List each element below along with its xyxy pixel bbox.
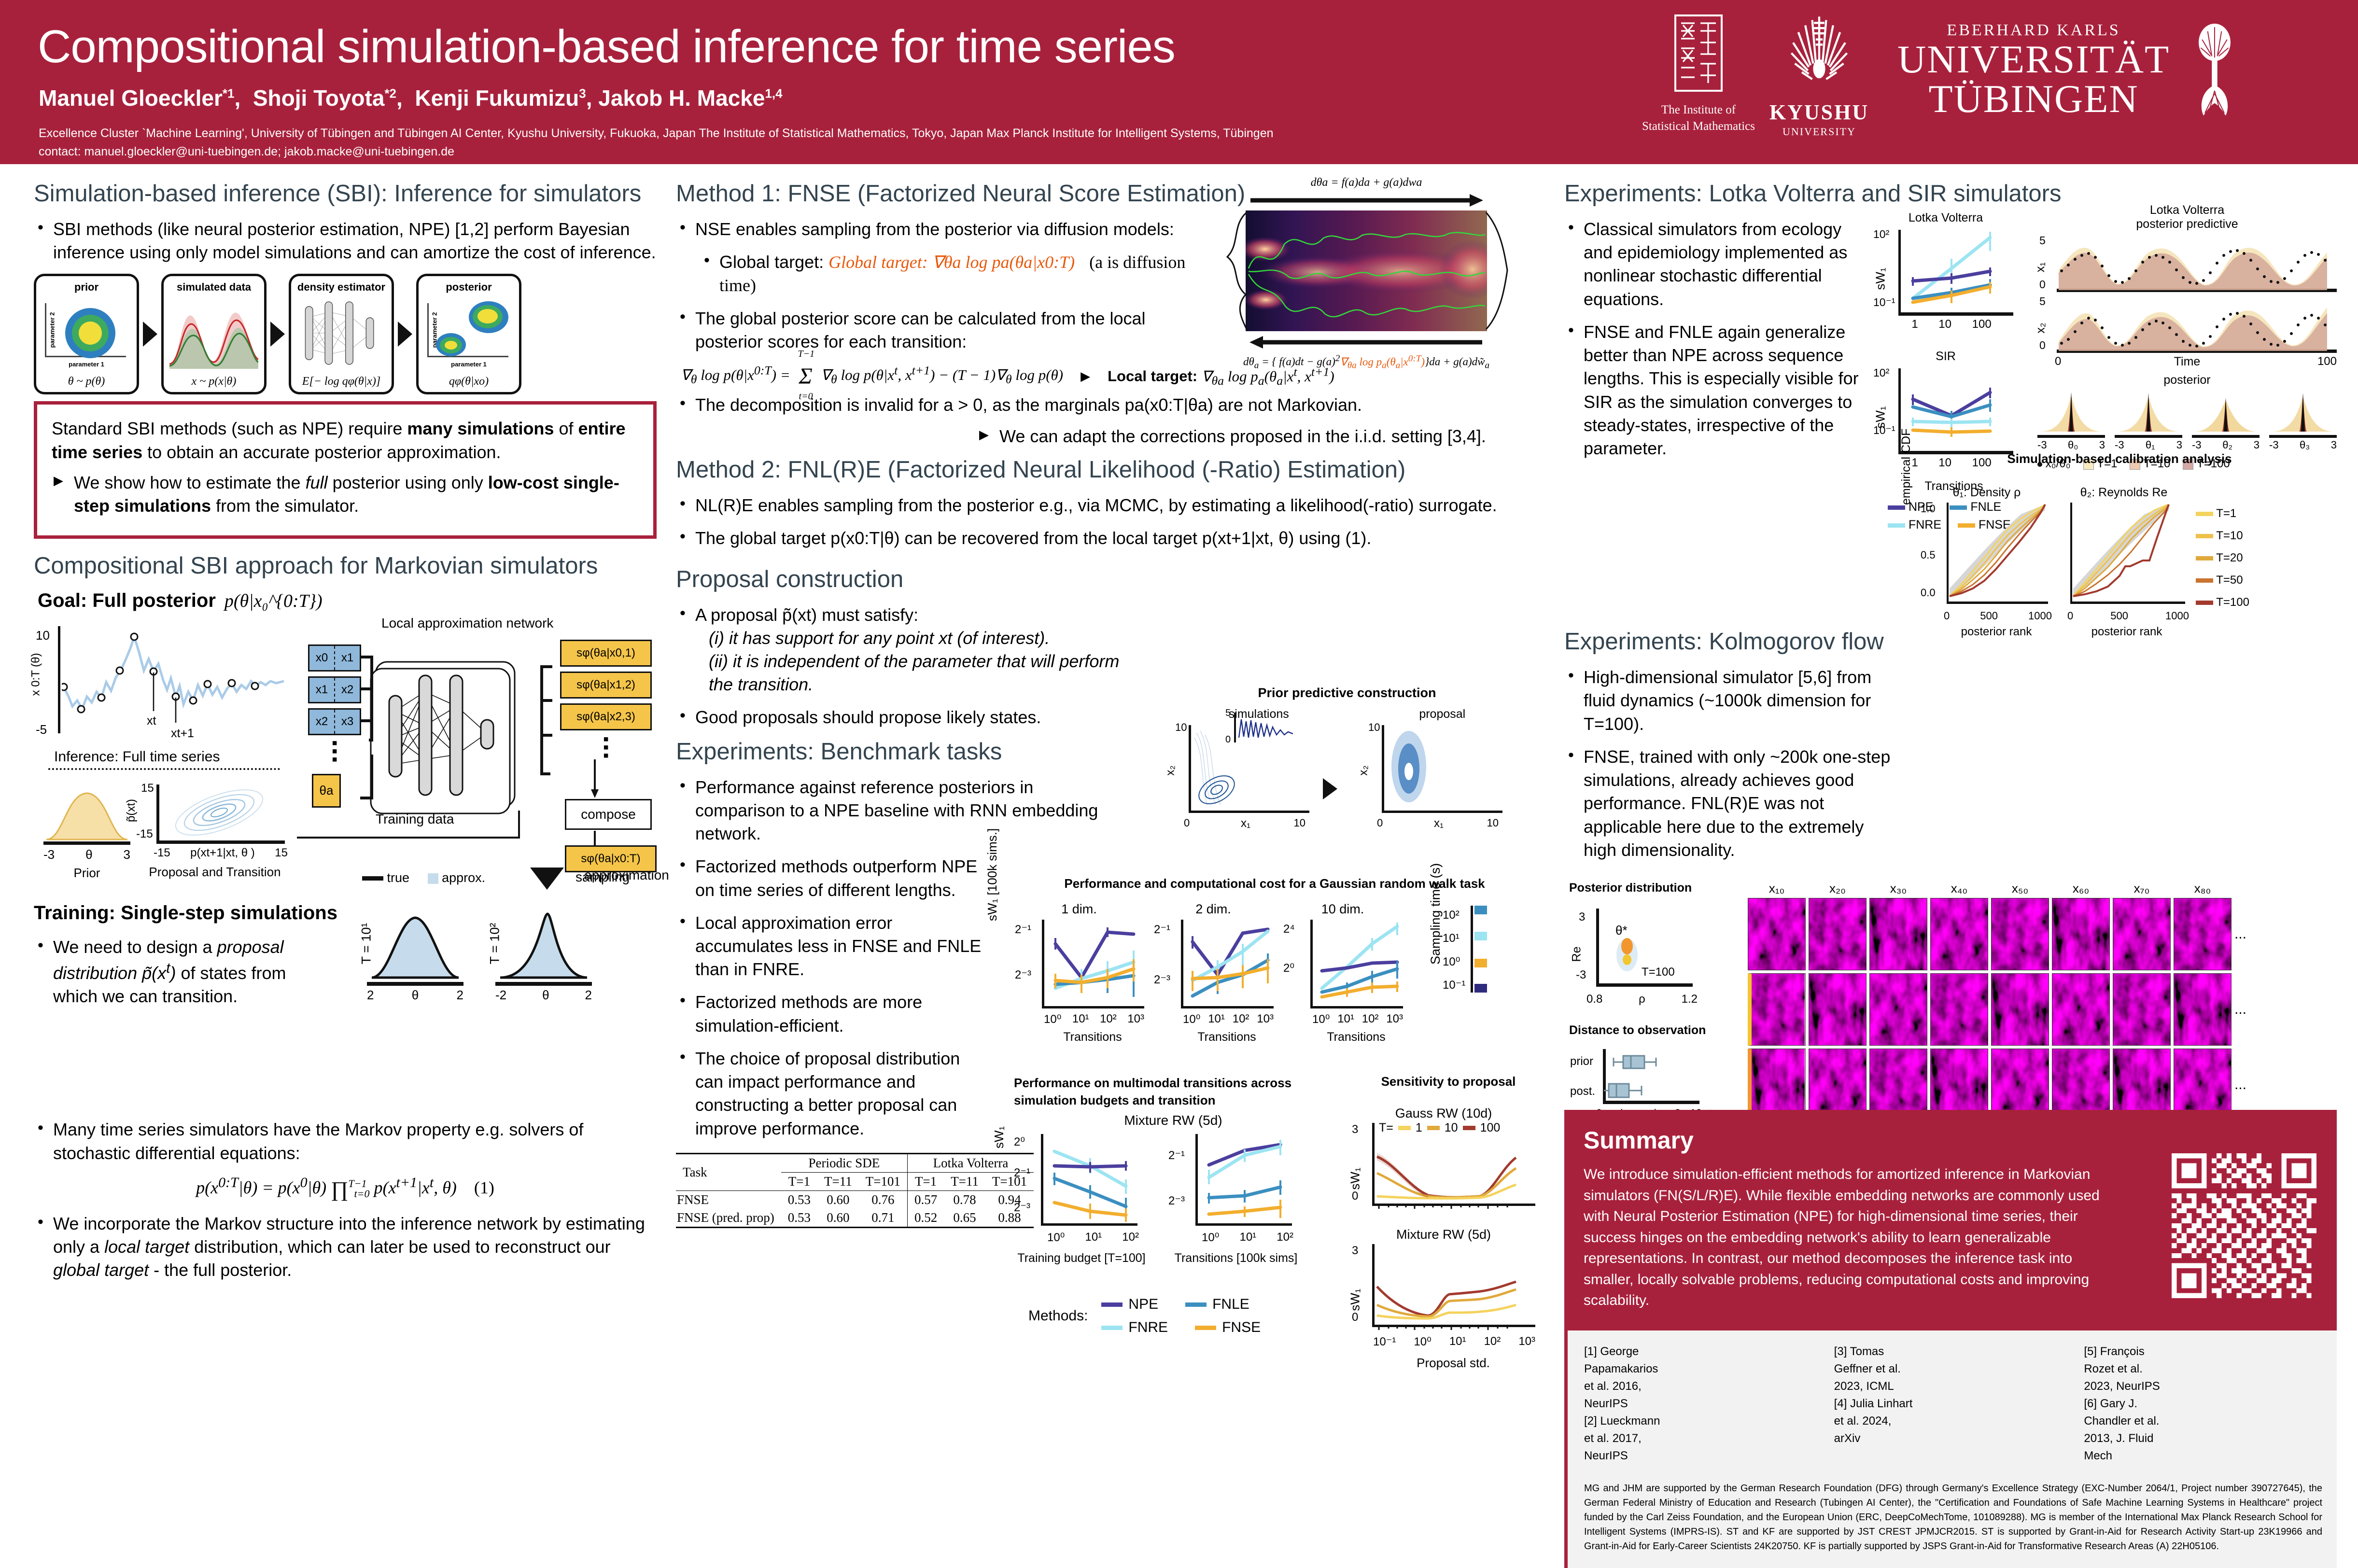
theta-tick-max: 3 bbox=[2331, 439, 2337, 451]
ism-seal-icon bbox=[1670, 10, 1727, 97]
chart-sensitivity-to-proposal: Gauss RW (10d) 3 0 sW₁ T= 1 10 100 bbox=[1352, 1106, 1535, 1371]
highlight-line-1: Standard SBI methods (such as NPE) requi… bbox=[52, 417, 639, 464]
sampling-time-colorbar: Sampling time (s) 10² 10¹ 10⁰ 10⁻¹ bbox=[1412, 902, 1503, 1044]
xtick: 500 bbox=[1980, 610, 1998, 622]
theta-tick-min: -3 bbox=[2192, 439, 2202, 451]
posterior-plot: parameter 2 parameter 1 bbox=[424, 297, 513, 369]
xlabel: posterior rank bbox=[1941, 625, 2052, 639]
pipeline-card-posterior: posterior parameter 2 parameter 1 qφ(θ|x… bbox=[416, 274, 521, 394]
ts-mark-xt1: xt+1 bbox=[171, 727, 194, 741]
panel-title: θ₂: Reynolds Re bbox=[2059, 486, 2189, 500]
summary-text: We introduce simulation-efficient method… bbox=[1584, 1164, 2110, 1311]
colorbar-swatch bbox=[1474, 906, 1487, 914]
kolmo-tile bbox=[1930, 898, 1988, 970]
tick: 2 bbox=[457, 988, 463, 1003]
method1-bullets: NSE enables sampling from the posterior … bbox=[676, 218, 1188, 353]
axis-label-x: parameter 1 bbox=[42, 361, 131, 368]
t-panel-label: T = 10² bbox=[487, 923, 502, 964]
highlight-bold-1: many simulations bbox=[407, 419, 554, 438]
method2-bullets: NL(R)E enables sampling from the posteri… bbox=[676, 494, 1530, 550]
t-panel-1: T = 10² -2 θ 2 bbox=[495, 907, 602, 1003]
forward-arrow-icon bbox=[1246, 192, 1487, 209]
qr-code[interactable] bbox=[2172, 1153, 2316, 1298]
proposal-bullets: A proposal p̃(xt) must satisfy: (i) it h… bbox=[676, 603, 1139, 729]
prior-density-plot: -3 θ 3 Prior bbox=[43, 788, 130, 851]
panel-title: θ₁: Density ρ bbox=[1922, 486, 2052, 500]
ts-trace bbox=[62, 624, 289, 738]
vertical-ellipsis-icon: ▪▪▪ bbox=[308, 739, 361, 764]
xlabel: Training budget [T=100] bbox=[1014, 1251, 1149, 1265]
kolmo-tile bbox=[2174, 973, 2232, 1046]
diffusion-forward-eq: dθa = f(a)da + g(a)dwa bbox=[1200, 176, 1533, 189]
author-2: Shoji Toyota bbox=[253, 85, 385, 111]
author-1: Manuel Gloeckler bbox=[39, 85, 223, 111]
tuebingen-universitaet: UNIVERSITÄT bbox=[1897, 40, 2170, 79]
kolmo-tile bbox=[2174, 898, 2232, 970]
neural-net-icon bbox=[297, 297, 386, 369]
kolmo-col-label: x₄₀ bbox=[1930, 881, 1988, 896]
kolmo-row-0: ... bbox=[1748, 898, 2327, 970]
kolmo-tile bbox=[1748, 898, 1806, 970]
sbc-panel-reynolds: θ₂: Reynolds Re 0 500 bbox=[2059, 486, 2189, 639]
output-connector bbox=[536, 663, 565, 784]
legend-true-approx: true approx. bbox=[362, 870, 485, 885]
xlabel: Time bbox=[2174, 355, 2201, 369]
kolmo-tile bbox=[1991, 898, 2049, 970]
local-approx-network: Local approximation network x0 x1 x1 x2 … bbox=[304, 615, 652, 856]
sampling-label: sampling bbox=[575, 869, 630, 885]
sbc-legend-item: T=10 bbox=[2196, 529, 2249, 543]
simdata-plot bbox=[169, 297, 258, 369]
highlight-line-2: We show how to estimate the full posteri… bbox=[52, 471, 639, 518]
equation-1-body: p(x0:T|θ) = p(x0|θ) ∏T−1t=0 p(xt+1|xt, θ… bbox=[196, 1178, 457, 1197]
list-item-global-target: Global target: Global target: ∇θa log pa… bbox=[700, 251, 1188, 297]
post-dist-title: Posterior distribution bbox=[1569, 881, 1728, 895]
sbc-legend: T=1 T=10 T=20 T=50 T=100 bbox=[2196, 486, 2249, 639]
author-3: Kenji Fukumizu bbox=[415, 85, 579, 111]
theta-label: θ₂ bbox=[2222, 439, 2232, 451]
pipeline-card-density-estimator: density estimator bbox=[289, 274, 394, 394]
proposal-requirement-lead: A proposal p̃(xt) must satisfy: bbox=[695, 605, 918, 625]
chart2-ylabel: sW₁ bbox=[992, 1126, 1007, 1148]
tuebingen-tree-icon bbox=[2194, 10, 2235, 130]
xtick: 10² bbox=[1122, 1231, 1139, 1245]
xtick: 0 bbox=[2055, 355, 2061, 368]
t-panels: T = 10¹ 2 θ 2 T = 10² -2 bbox=[367, 907, 602, 1003]
xtick: 10² bbox=[1100, 1012, 1117, 1026]
lv-chart-title: Lotka Volterra bbox=[1873, 211, 2018, 225]
pipeline-card-simdata: simulated data x ~ p(x|θ) bbox=[161, 274, 267, 394]
references-box: [1] George Papamakarios et al. 2016, Neu… bbox=[1564, 1330, 2337, 1568]
kyushu-logo: KYUSHU UNIVERSITY bbox=[1761, 10, 1877, 139]
ytick: 2⁴ bbox=[1283, 923, 1295, 936]
proposal-scatter: 10 0 x₁ 10 x₂ bbox=[1366, 725, 1502, 822]
theta-label: θ₀ bbox=[2068, 439, 2078, 451]
pp-posterior-label: posterior bbox=[2037, 373, 2337, 387]
xtick: 10² bbox=[1233, 1012, 1249, 1026]
input-pair-1: x1 x2 bbox=[308, 676, 361, 703]
density-curve bbox=[495, 907, 592, 980]
sbc-legend-item: T=50 bbox=[2196, 574, 2249, 587]
training-bullets: We need to design a proposal distributio… bbox=[34, 936, 333, 1008]
xlabel: Transitions bbox=[1180, 1030, 1274, 1044]
chart-ylabel: sW₁ [100k sims.] bbox=[985, 828, 1000, 921]
input-token: x2 bbox=[309, 710, 334, 734]
list-item: We need to design a proposal distributio… bbox=[34, 936, 333, 1008]
ytick: 2⁻¹ bbox=[1014, 1166, 1030, 1180]
posterior-marginal-3: -3 θ₃ 3 bbox=[2269, 391, 2337, 451]
ism-logo: The Institute of Statistical Mathematics bbox=[1641, 10, 1756, 135]
page-title: Compositional simulation-based inference… bbox=[38, 20, 1175, 73]
legend-prefix: T= bbox=[1379, 1121, 1393, 1135]
proposal-tick-mid: p(xt+1|xt, θ ) bbox=[190, 846, 255, 860]
ylabel: x₂ bbox=[1164, 765, 1178, 775]
column-middle: Method 1: FNSE (Factorized Neural Score … bbox=[676, 181, 1530, 1228]
sbc-figure: Simulation-based calibration analysis em… bbox=[1922, 451, 2317, 639]
local-net-label: Local approximation network bbox=[381, 615, 553, 631]
list-item: The decomposition is invalid for a > 0, … bbox=[676, 393, 1530, 417]
results-table: Task Periodic SDE Lotka Volterra T=1 T=1… bbox=[676, 1153, 1034, 1228]
legend-item-fnle: FNLE bbox=[1185, 1296, 1249, 1313]
tick: -2 bbox=[495, 988, 506, 1003]
reference-2: [2] Lueckmann et al. 2017, NeurIPS bbox=[1584, 1413, 1663, 1465]
key-message-box: Standard SBI methods (such as NPE) requi… bbox=[34, 401, 657, 538]
equation-1-number: (1) bbox=[474, 1178, 494, 1197]
theta-tick-min: -3 bbox=[2269, 439, 2279, 451]
pp-panel-x1: 5 0 x₁ bbox=[2037, 236, 2337, 294]
ytick: 3 bbox=[1579, 910, 1585, 924]
posterior-distribution-panel: Posterior distribution 3 -3 Re θ* T=100 … bbox=[1569, 881, 1728, 1113]
proposal-transition-plot: 15 -15 p̃(xt) -15 p(xt+1|xt, θ ) 15 Prop… bbox=[145, 784, 285, 854]
iid-correction-note: ▶ We can adapt the corrections proposed … bbox=[975, 426, 1530, 447]
kolmogorov-bullets: High-dimensional simulator [5,6] from fl… bbox=[1564, 666, 1897, 862]
ytick: -3 bbox=[1576, 968, 1586, 982]
table-subhead: T=1 bbox=[907, 1172, 944, 1190]
legend-item-fnre: FNRE bbox=[1101, 1319, 1168, 1336]
table-cell: 0.57 bbox=[907, 1190, 944, 1209]
ytick: 1.0 bbox=[1921, 503, 1936, 515]
xtick: 10⁰ bbox=[1414, 1335, 1431, 1349]
minor-ticks bbox=[1374, 1325, 1519, 1333]
section-title-compositional: Compositional SBI approach for Markovian… bbox=[34, 553, 657, 579]
density-curve bbox=[367, 907, 463, 980]
chart3-title-wrap: Sensitivity to proposal bbox=[1361, 1074, 1535, 1089]
table-cell-task: FNSE (pred. prop) bbox=[676, 1209, 781, 1228]
kolmogorov-figure: Posterior distribution 3 -3 Re θ* T=100 … bbox=[1564, 881, 2337, 1093]
kolmo-tile bbox=[2113, 973, 2171, 1046]
proposal-tick-max: 15 bbox=[275, 846, 288, 860]
xtick: 500 bbox=[2110, 610, 2128, 622]
prior-plot: parameter 2 parameter 1 bbox=[42, 297, 131, 369]
chart2-subtitle: Mixture RW (5d) bbox=[1014, 1113, 1333, 1128]
proposal-tick-min: -15 bbox=[154, 846, 170, 860]
output-boxes: sφ(θa|x0,1) sφ(θa|x1,2) sφ(θa|x2,3) ▪▪▪ bbox=[560, 640, 652, 760]
posterior-marginal-2: -3 θ₂ 3 bbox=[2192, 391, 2260, 451]
table-cell: 0.52 bbox=[907, 1209, 944, 1228]
compose-arrow-icon bbox=[590, 759, 600, 798]
goal-formula: p(θ|x₀^{0:T}) bbox=[225, 590, 323, 612]
table-cell: 0.76 bbox=[859, 1190, 908, 1209]
theta-tick-max: 3 bbox=[2176, 439, 2182, 451]
input-token: x1 bbox=[335, 646, 360, 670]
legend-item-npe: NPE bbox=[1101, 1296, 1158, 1313]
xtick: 10¹ bbox=[1208, 1012, 1225, 1026]
colorbar-tick: 10¹ bbox=[1443, 932, 1460, 945]
list-item: NSE enables sampling from the posterior … bbox=[676, 218, 1188, 241]
vertical-ellipsis-icon: ▪▪▪ bbox=[560, 735, 652, 760]
table-subhead: T=101 bbox=[859, 1172, 908, 1190]
xtick: 10⁰ bbox=[1312, 1012, 1330, 1026]
proposal-ylabel: p̃(xt) bbox=[125, 799, 138, 822]
prior-predictive-right-label: proposal bbox=[1419, 707, 1465, 721]
pipeline-card-title: simulated data bbox=[164, 281, 264, 294]
xtick: 100 bbox=[2317, 355, 2337, 368]
table-cell: 0.71 bbox=[859, 1209, 908, 1228]
ytick: 0 bbox=[2039, 278, 2046, 291]
xtick: 10⁰ bbox=[1044, 1012, 1061, 1026]
sampling-triangle-icon bbox=[526, 865, 570, 894]
chart3-title: Sensitivity to proposal bbox=[1361, 1074, 1535, 1089]
ytick: 2⁻³ bbox=[1014, 1201, 1030, 1215]
simdata-traces bbox=[169, 297, 258, 369]
kolmo-ellipsis: ... bbox=[2234, 973, 2259, 1046]
pp-time-axis: 0 Time 100 bbox=[2037, 355, 2337, 371]
table-row: FNSE (pred. prop) 0.53 0.60 0.71 0.52 0.… bbox=[676, 1209, 1034, 1228]
iid-correction-text: We can adapt the corrections proposed in… bbox=[999, 426, 1486, 446]
xtick: 10¹ bbox=[1239, 1231, 1256, 1245]
timeseries-inset: 5 0 bbox=[1227, 713, 1295, 748]
ts-y-axis-label: x 0:T (θ) bbox=[29, 653, 42, 696]
xlabel: x₁ bbox=[1434, 817, 1444, 830]
right-marginal-density bbox=[1485, 210, 1510, 331]
ts-ymin-tick: -5 bbox=[36, 722, 47, 737]
column-right: Experiments: Lotka Volterra and SIR simu… bbox=[1564, 181, 2337, 1568]
inset-ymax: 5 bbox=[1225, 708, 1231, 719]
ytick: 2⁻¹ bbox=[1154, 923, 1170, 937]
kyushu-wordmark: KYUSHU bbox=[1761, 100, 1877, 125]
kolmo-col-label: x₁₀ bbox=[1748, 881, 1806, 896]
sbc-panel-density: θ₁: Density ρ 1.0 0.5 0.0 bbox=[1922, 486, 2052, 639]
xlabel: Proposal std. bbox=[1371, 1356, 1535, 1371]
list-item: Local approximation error accumulates le… bbox=[676, 911, 985, 981]
ytick: 0 bbox=[2039, 339, 2046, 352]
pipeline-card-formula: qφ(θ|xo) bbox=[419, 375, 519, 388]
list-item: We incorporate the Markov structure into… bbox=[34, 1212, 657, 1282]
legend-swatch-true bbox=[362, 876, 383, 881]
legend-swatch-approx bbox=[428, 873, 438, 884]
diffusion-reverse-eq: dθa = { f(a)dt − g(a)2∇θa log pa(θa|x0:T… bbox=[1200, 353, 1533, 371]
decomposition-equation: ∇θ log p(θ|x0:T) = T−1 Σ t=0 ∇θ log p(θ|… bbox=[681, 363, 1063, 390]
ytick: 2⁻³ bbox=[1015, 968, 1031, 982]
table-subhead: T=11 bbox=[944, 1172, 985, 1190]
equation-1: p(x0:T|θ) = p(x0|θ) ∏T−1t=0 p(xt+1|xt, θ… bbox=[34, 1175, 657, 1202]
list-item: A proposal p̃(xt) must satisfy: (i) it h… bbox=[676, 603, 1139, 697]
xtick: 10⁻¹ bbox=[1373, 1335, 1396, 1349]
prior-tick-max: 3 bbox=[124, 847, 130, 862]
list-item: Classical simulators from ecology and ep… bbox=[1564, 218, 1864, 311]
kyushu-crest-icon bbox=[1776, 10, 1863, 97]
xtick: 10³ bbox=[1518, 1335, 1535, 1349]
reference-3: [3] Tomas Geffner et al. 2023, ICML bbox=[1834, 1343, 1913, 1395]
diffusion-figure: dθa = f(a)da + g(a)dwa bbox=[1200, 176, 1533, 371]
box-row-label: prior bbox=[1570, 1055, 1593, 1068]
prior-predictive-title: Prior predictive construction bbox=[1164, 686, 1530, 700]
kyushu-subcaption: UNIVERSITY bbox=[1761, 125, 1877, 139]
input-pair-2: x2 x3 bbox=[308, 708, 361, 735]
list-item: FNSE and FNLE again generalize better th… bbox=[1564, 321, 1864, 460]
posterior-marginals: -3 θ₀ 3 -3 θ₁ 3 bbox=[2037, 391, 2337, 451]
posterior-marginal-1: -3 θ₁ 3 bbox=[2115, 391, 2182, 451]
colorbar-swatch bbox=[1474, 959, 1487, 967]
ylabel: x₂ bbox=[2034, 322, 2048, 333]
sbc-legend-item: T=1 bbox=[2196, 507, 2249, 520]
ytick: 2⁻¹ bbox=[1015, 923, 1031, 937]
input-token: x0 bbox=[309, 646, 334, 670]
legend-label-approx: approx. bbox=[442, 870, 485, 885]
method1-more-bullets: The decomposition is invalid for a > 0, … bbox=[676, 393, 1530, 417]
ytick: 2⁻¹ bbox=[1168, 1148, 1185, 1162]
table-cell: 0.78 bbox=[944, 1190, 985, 1209]
diffusion-heatmap bbox=[1246, 210, 1487, 331]
table-row: FNSE 0.53 0.60 0.76 0.57 0.78 0.94 bbox=[676, 1190, 1034, 1209]
axis-label-x: parameter 1 bbox=[424, 361, 513, 368]
xtick: 10² bbox=[1277, 1231, 1293, 1245]
pipeline-card-formula: E[− log qφ(θ|x)] bbox=[291, 375, 392, 388]
theta-label: θ₁ bbox=[2146, 439, 2155, 451]
ytick: 0.0 bbox=[1921, 587, 1936, 599]
ylabel: x₂ bbox=[1357, 765, 1371, 775]
xtick: 1 bbox=[1911, 318, 1918, 331]
arrow-right-icon bbox=[143, 322, 157, 347]
tick: 2 bbox=[367, 988, 374, 1003]
section-title-sbi: Simulation-based inference (SBI): Infere… bbox=[34, 181, 657, 207]
chart-panel-1dim: 1 dim. 2⁻¹ 2⁻³ bbox=[1014, 902, 1144, 1044]
xtick: 10⁰ bbox=[1183, 1012, 1200, 1026]
input-token: x2 bbox=[335, 678, 360, 702]
qr-code-icon[interactable] bbox=[2172, 1153, 2316, 1298]
ytick: 2⁻³ bbox=[1154, 973, 1170, 987]
input-pair-0: x0 x1 bbox=[308, 644, 361, 672]
ts-mark-xt: xt bbox=[147, 714, 156, 728]
chart-panel-2dim: 2 dim. 2⁻¹ 2⁻³ bbox=[1153, 902, 1274, 1044]
chart2-title-wrap: Performance on multimodal transitions ac… bbox=[1014, 1074, 1323, 1109]
list-item: The global target p(x0:T|θ) can be recov… bbox=[676, 527, 1530, 550]
kolmo-tile bbox=[2052, 898, 2110, 970]
ism-caption-line1: The Institute of bbox=[1641, 102, 1756, 118]
theta-tick-max: 3 bbox=[2254, 439, 2260, 451]
ylabel: sW₁ bbox=[1348, 1288, 1363, 1311]
sbc-legend-item: T=100 bbox=[2196, 596, 2249, 609]
table-cell: 0.60 bbox=[817, 1209, 859, 1228]
ytick: 10² bbox=[1873, 366, 1889, 379]
goal-label: Goal: Full posterior bbox=[38, 590, 216, 612]
contour-icon bbox=[161, 787, 282, 836]
chart-mixture-rw: Mixture RW (5d) sW₁ 2⁰ 2⁻¹ 2⁻³ bbox=[1014, 1113, 1333, 1336]
output-box-0: sφ(θa|x0,1) bbox=[560, 640, 652, 667]
author-4: Jakob H. Macke bbox=[598, 85, 765, 111]
t-annotation: T=100 bbox=[1642, 966, 1675, 979]
theta-input-box: θa bbox=[312, 774, 341, 808]
ism-caption-line2: Statistical Mathematics bbox=[1641, 118, 1756, 135]
arrow-right-icon: ▶ bbox=[979, 427, 989, 442]
sensitivity-panel-mixture: Mixture RW (5d) 3 0 sW₁ bbox=[1352, 1227, 1535, 1371]
list-item: Factorized methods outperform NPE on tim… bbox=[676, 855, 985, 901]
compositional-diagram: 10 -5 x 0:T (θ) xt xt+1 Inference: Full … bbox=[34, 615, 657, 866]
ytick: 5 bbox=[2039, 295, 2046, 308]
global-approx-box: sφ(θa|x0:T) bbox=[565, 845, 657, 872]
ytick: 2⁰ bbox=[1283, 961, 1294, 975]
list-item: Good proposals should propose likely sta… bbox=[676, 706, 1139, 729]
global-approx-row: sφ(θa|x0:T) sampling bbox=[34, 866, 657, 897]
sensitivity-legend: T= 1 10 100 bbox=[1379, 1121, 1500, 1135]
output-box-1: sφ(θa|x1,2) bbox=[560, 672, 652, 699]
sbi-pipeline-diagram: prior parameter 2 parameter 1 θ ~ p(θ) s… bbox=[34, 274, 657, 394]
xlabel: Transitions bbox=[1309, 1030, 1403, 1044]
xlabel: Transitions [100k sims] bbox=[1168, 1251, 1304, 1265]
table-cell: 0.60 bbox=[817, 1190, 859, 1209]
compose-box: compose bbox=[565, 799, 652, 830]
output-box-2: sφ(θa|x2,3) bbox=[560, 703, 652, 730]
minor-ticks bbox=[1374, 1204, 1519, 1212]
reference-6: [6] Gary J. Chandler et al. 2013, J. Flu… bbox=[2084, 1395, 2162, 1465]
kolmo-row-1: ... bbox=[1748, 973, 2327, 1046]
theta-label: θ₃ bbox=[2300, 439, 2310, 451]
author-3-sup: 3 bbox=[579, 86, 586, 101]
benchmark-bullets-narrow: Factorized methods outperform NPE on tim… bbox=[676, 855, 985, 1140]
table-group-0: Periodic SDE bbox=[781, 1153, 908, 1172]
simulations-scatter: 10 0 x₁ 10 x₂ bbox=[1173, 725, 1308, 822]
xtick: 10¹ bbox=[1449, 1335, 1466, 1349]
pp-panel-x2: 5 0 x₂ bbox=[2037, 297, 2337, 355]
list-item: The global posterior score can be calcul… bbox=[676, 307, 1188, 353]
markov-bullets: Many time series simulators have the Mar… bbox=[34, 1118, 657, 1164]
ytick: 0 bbox=[1352, 1190, 1358, 1203]
colorbar-tick: 10⁰ bbox=[1443, 955, 1460, 969]
colorbar-label: Sampling time (s) bbox=[1428, 863, 1443, 965]
ytick-max: 10 bbox=[1368, 721, 1380, 734]
kolmo-tile bbox=[1748, 973, 1806, 1046]
chart2-panel-transitions: 2⁻¹ 2⁻³ bbox=[1168, 1134, 1304, 1265]
colorbar-tick: 10⁻¹ bbox=[1443, 978, 1465, 992]
theta-tick-min: -3 bbox=[2115, 439, 2124, 451]
xtick: 10¹ bbox=[1072, 1012, 1089, 1026]
tick: θ bbox=[542, 988, 549, 1003]
posterior-predictive-figure: Lotka Volterra posterior predictive 5 0 … bbox=[2037, 203, 2337, 471]
colorbar-swatch bbox=[1474, 984, 1487, 993]
inset-ymin: 0 bbox=[1225, 734, 1231, 745]
xtick: 1000 bbox=[2165, 610, 2189, 622]
kolmogorov-flow-tiles: x₁₀ x₂₀ x₃₀ x₄₀ x₅₀ x₆₀ x₇₀ x₈₀ bbox=[1748, 881, 2327, 1121]
ylabel: sW₁ bbox=[1348, 1167, 1363, 1190]
ytick: 0 bbox=[1352, 1311, 1358, 1324]
table-subhead: T=11 bbox=[817, 1172, 859, 1190]
box-row-label: post. bbox=[1570, 1085, 1595, 1098]
t-panel-label: T = 10¹ bbox=[359, 923, 374, 964]
axis-label-y: parameter 2 bbox=[48, 312, 56, 348]
legend-label-true: true bbox=[387, 870, 410, 885]
input-token: x1 bbox=[309, 678, 334, 702]
kolmo-ellipsis: ... bbox=[2234, 898, 2259, 970]
ts-ymax-tick: 10 bbox=[36, 628, 50, 643]
kolmo-tile bbox=[1869, 973, 1927, 1046]
pipeline-card-formula: x ~ p(x|θ) bbox=[164, 375, 264, 388]
tick: 2 bbox=[585, 988, 592, 1003]
references-columns: [1] George Papamakarios et al. 2016, Neu… bbox=[1584, 1343, 2322, 1465]
benchmark-bullets-wide: Performance against reference posteriors… bbox=[676, 776, 1120, 846]
legend-item-fnse: FNSE bbox=[1195, 1319, 1261, 1336]
ytick: 5 bbox=[2039, 234, 2046, 247]
list-item: SBI methods (like neural posterior estim… bbox=[34, 218, 657, 264]
